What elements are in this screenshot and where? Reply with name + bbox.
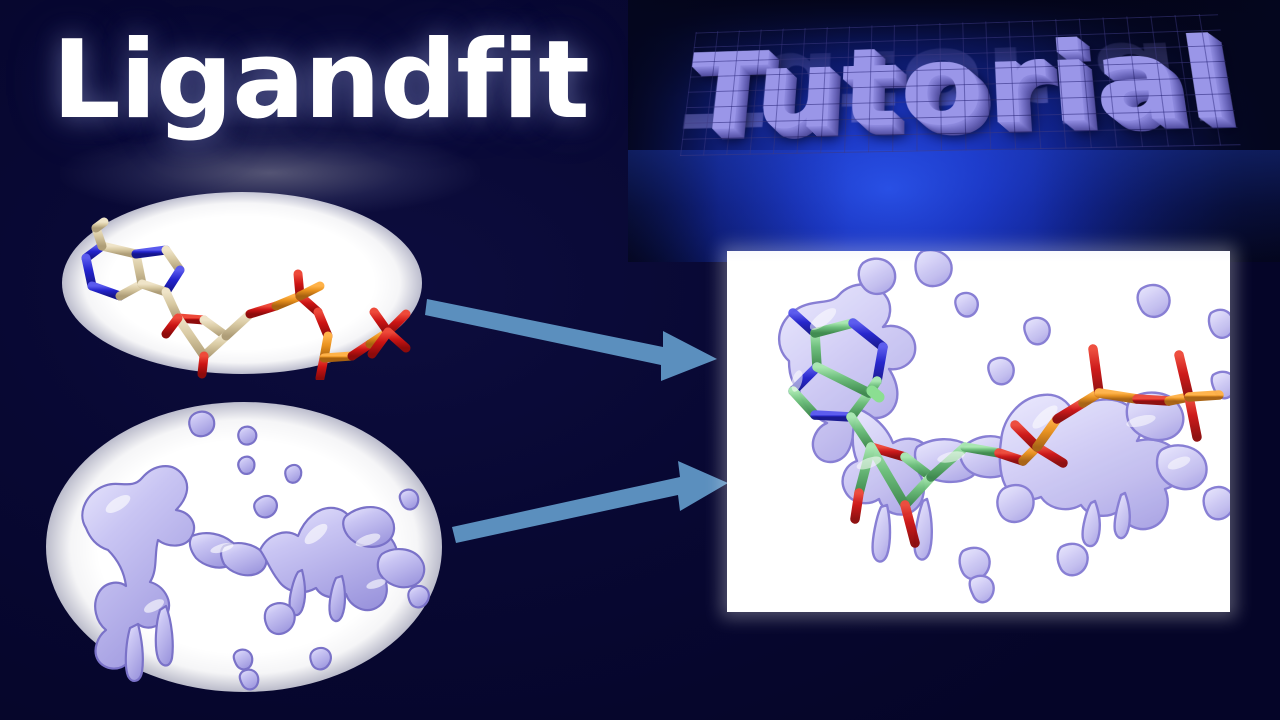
- tutorial-graphic: Tutorial Tutorial: [628, 0, 1280, 262]
- ligand-stick-model: [62, 188, 434, 380]
- arrow-ligand-to-result: [425, 285, 725, 385]
- page-title: Ligandfit: [52, 24, 589, 137]
- fitted-result-panel: [727, 251, 1230, 612]
- tutorial-floor-glow: [628, 150, 1280, 262]
- electron-density-isosurface: [46, 400, 446, 696]
- arrow-density-to-result: [450, 455, 730, 545]
- tutorial-text: Tutorial: [680, 13, 1240, 156]
- slide-canvas: Tutorial Tutorial Ligandfit: [0, 0, 1280, 720]
- fitted-ligand-in-density: [727, 251, 1230, 612]
- tutorial-brick-texture: [680, 13, 1240, 156]
